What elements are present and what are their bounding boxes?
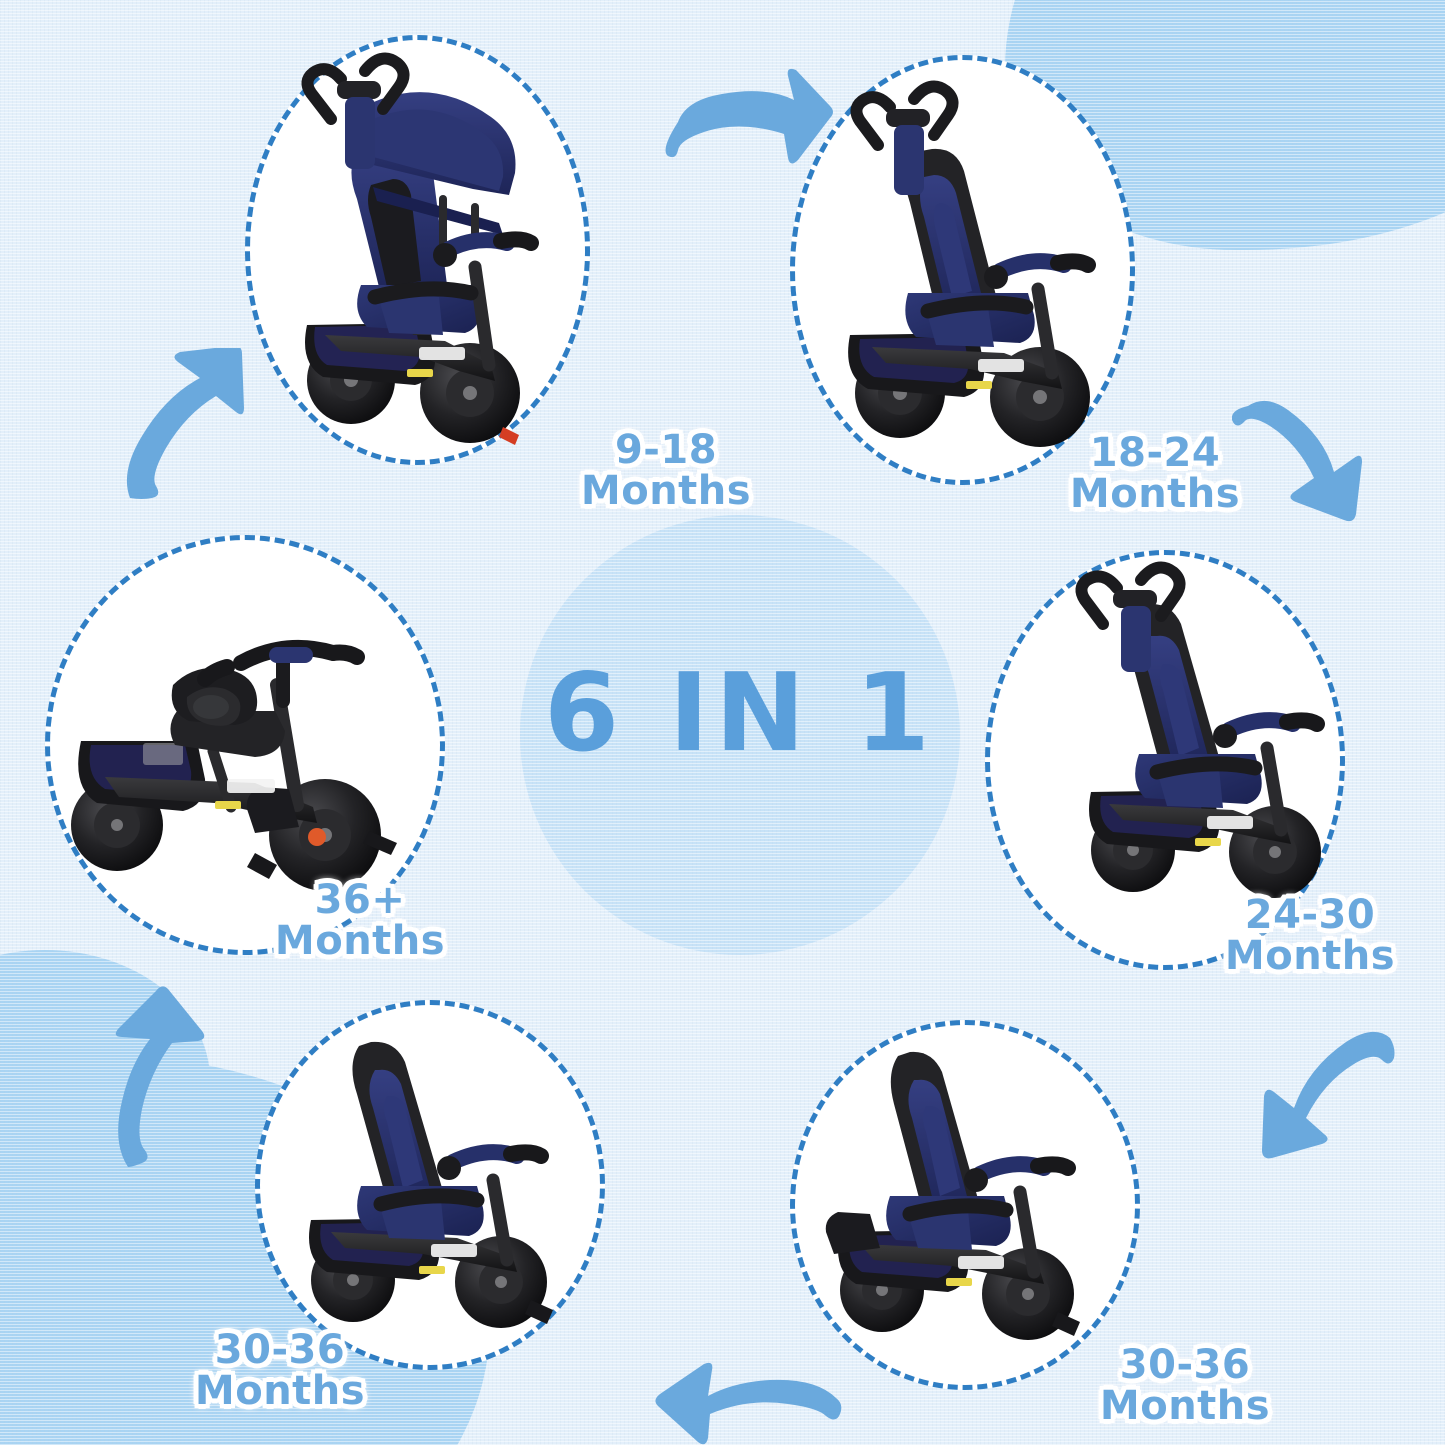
arrow-down-right: [1232, 392, 1422, 554]
stage-label-1: 9-18 Months: [551, 430, 781, 512]
arrow-top-right: [648, 62, 848, 197]
arrow-up-right: [112, 348, 292, 513]
arrow-down-left: [1230, 1020, 1405, 1185]
stage-node-5: 30-36 Months: [255, 1000, 605, 1370]
stage-node-4: 30-36 Months: [790, 1020, 1140, 1390]
product-photo-30-36-months-right: [790, 1020, 1140, 1390]
stage-label-4: 30-36 Months: [1060, 1345, 1310, 1427]
stage-node-6: 36+ Months: [45, 535, 445, 955]
infographic-canvas: 6 IN 1: [0, 0, 1445, 1445]
stage-node-1: 9-18 Months: [245, 35, 590, 465]
stage-node-3: 24-30 Months: [985, 550, 1345, 970]
stage-label-5: 30-36 Months: [155, 1330, 405, 1412]
product-photo-9-18-months: [245, 35, 590, 465]
headline-6-in-1: 6 IN 1: [520, 660, 960, 768]
arrow-up-left: [68, 985, 243, 1175]
stage-label-3: 24-30 Months: [1185, 895, 1435, 977]
stage-label-6: 36+ Months: [250, 880, 470, 962]
product-photo-30-36-months-left: [255, 1000, 605, 1370]
arrow-bottom-left: [640, 1352, 850, 1445]
